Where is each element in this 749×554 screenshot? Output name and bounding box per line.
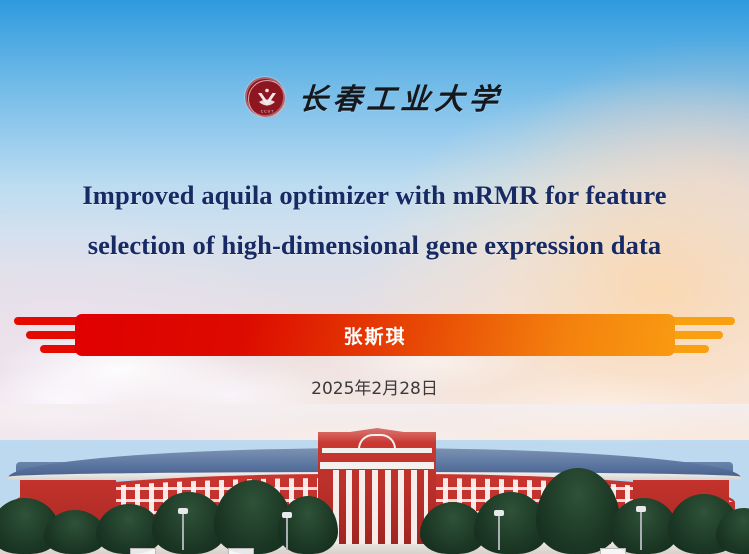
lamp-post <box>182 514 184 550</box>
university-name-text: 长春工业大学 <box>298 76 505 118</box>
presenter-banner: 张斯琪 <box>0 300 749 364</box>
banner-body: 张斯琪 <box>75 314 675 356</box>
presentation-date: 2025年2月28日 <box>0 374 749 399</box>
campus-building-photo <box>0 404 749 554</box>
tower-band <box>320 462 434 469</box>
university-logo: C C U T 长春工业大学 <box>0 72 749 122</box>
page-title: Improved aquila optimizer with mRMR for … <box>0 170 749 270</box>
lamp-post <box>640 512 642 550</box>
presenter-name: 张斯琪 <box>343 322 406 349</box>
lamp-post <box>498 516 500 550</box>
tower-columns <box>326 470 428 552</box>
tower-arch-ornament <box>358 434 396 449</box>
svg-text:C C U T: C C U T <box>261 110 274 114</box>
presentation-title-slide: C C U T 长春工业大学 Improved aquila optimizer… <box>0 0 749 554</box>
title-line-2: selection of high-dimensional gene expre… <box>0 220 749 270</box>
university-emblem-icon: C C U T <box>245 77 285 117</box>
lamp-post <box>286 518 288 550</box>
title-line-1: Improved aquila optimizer with mRMR for … <box>0 170 749 220</box>
